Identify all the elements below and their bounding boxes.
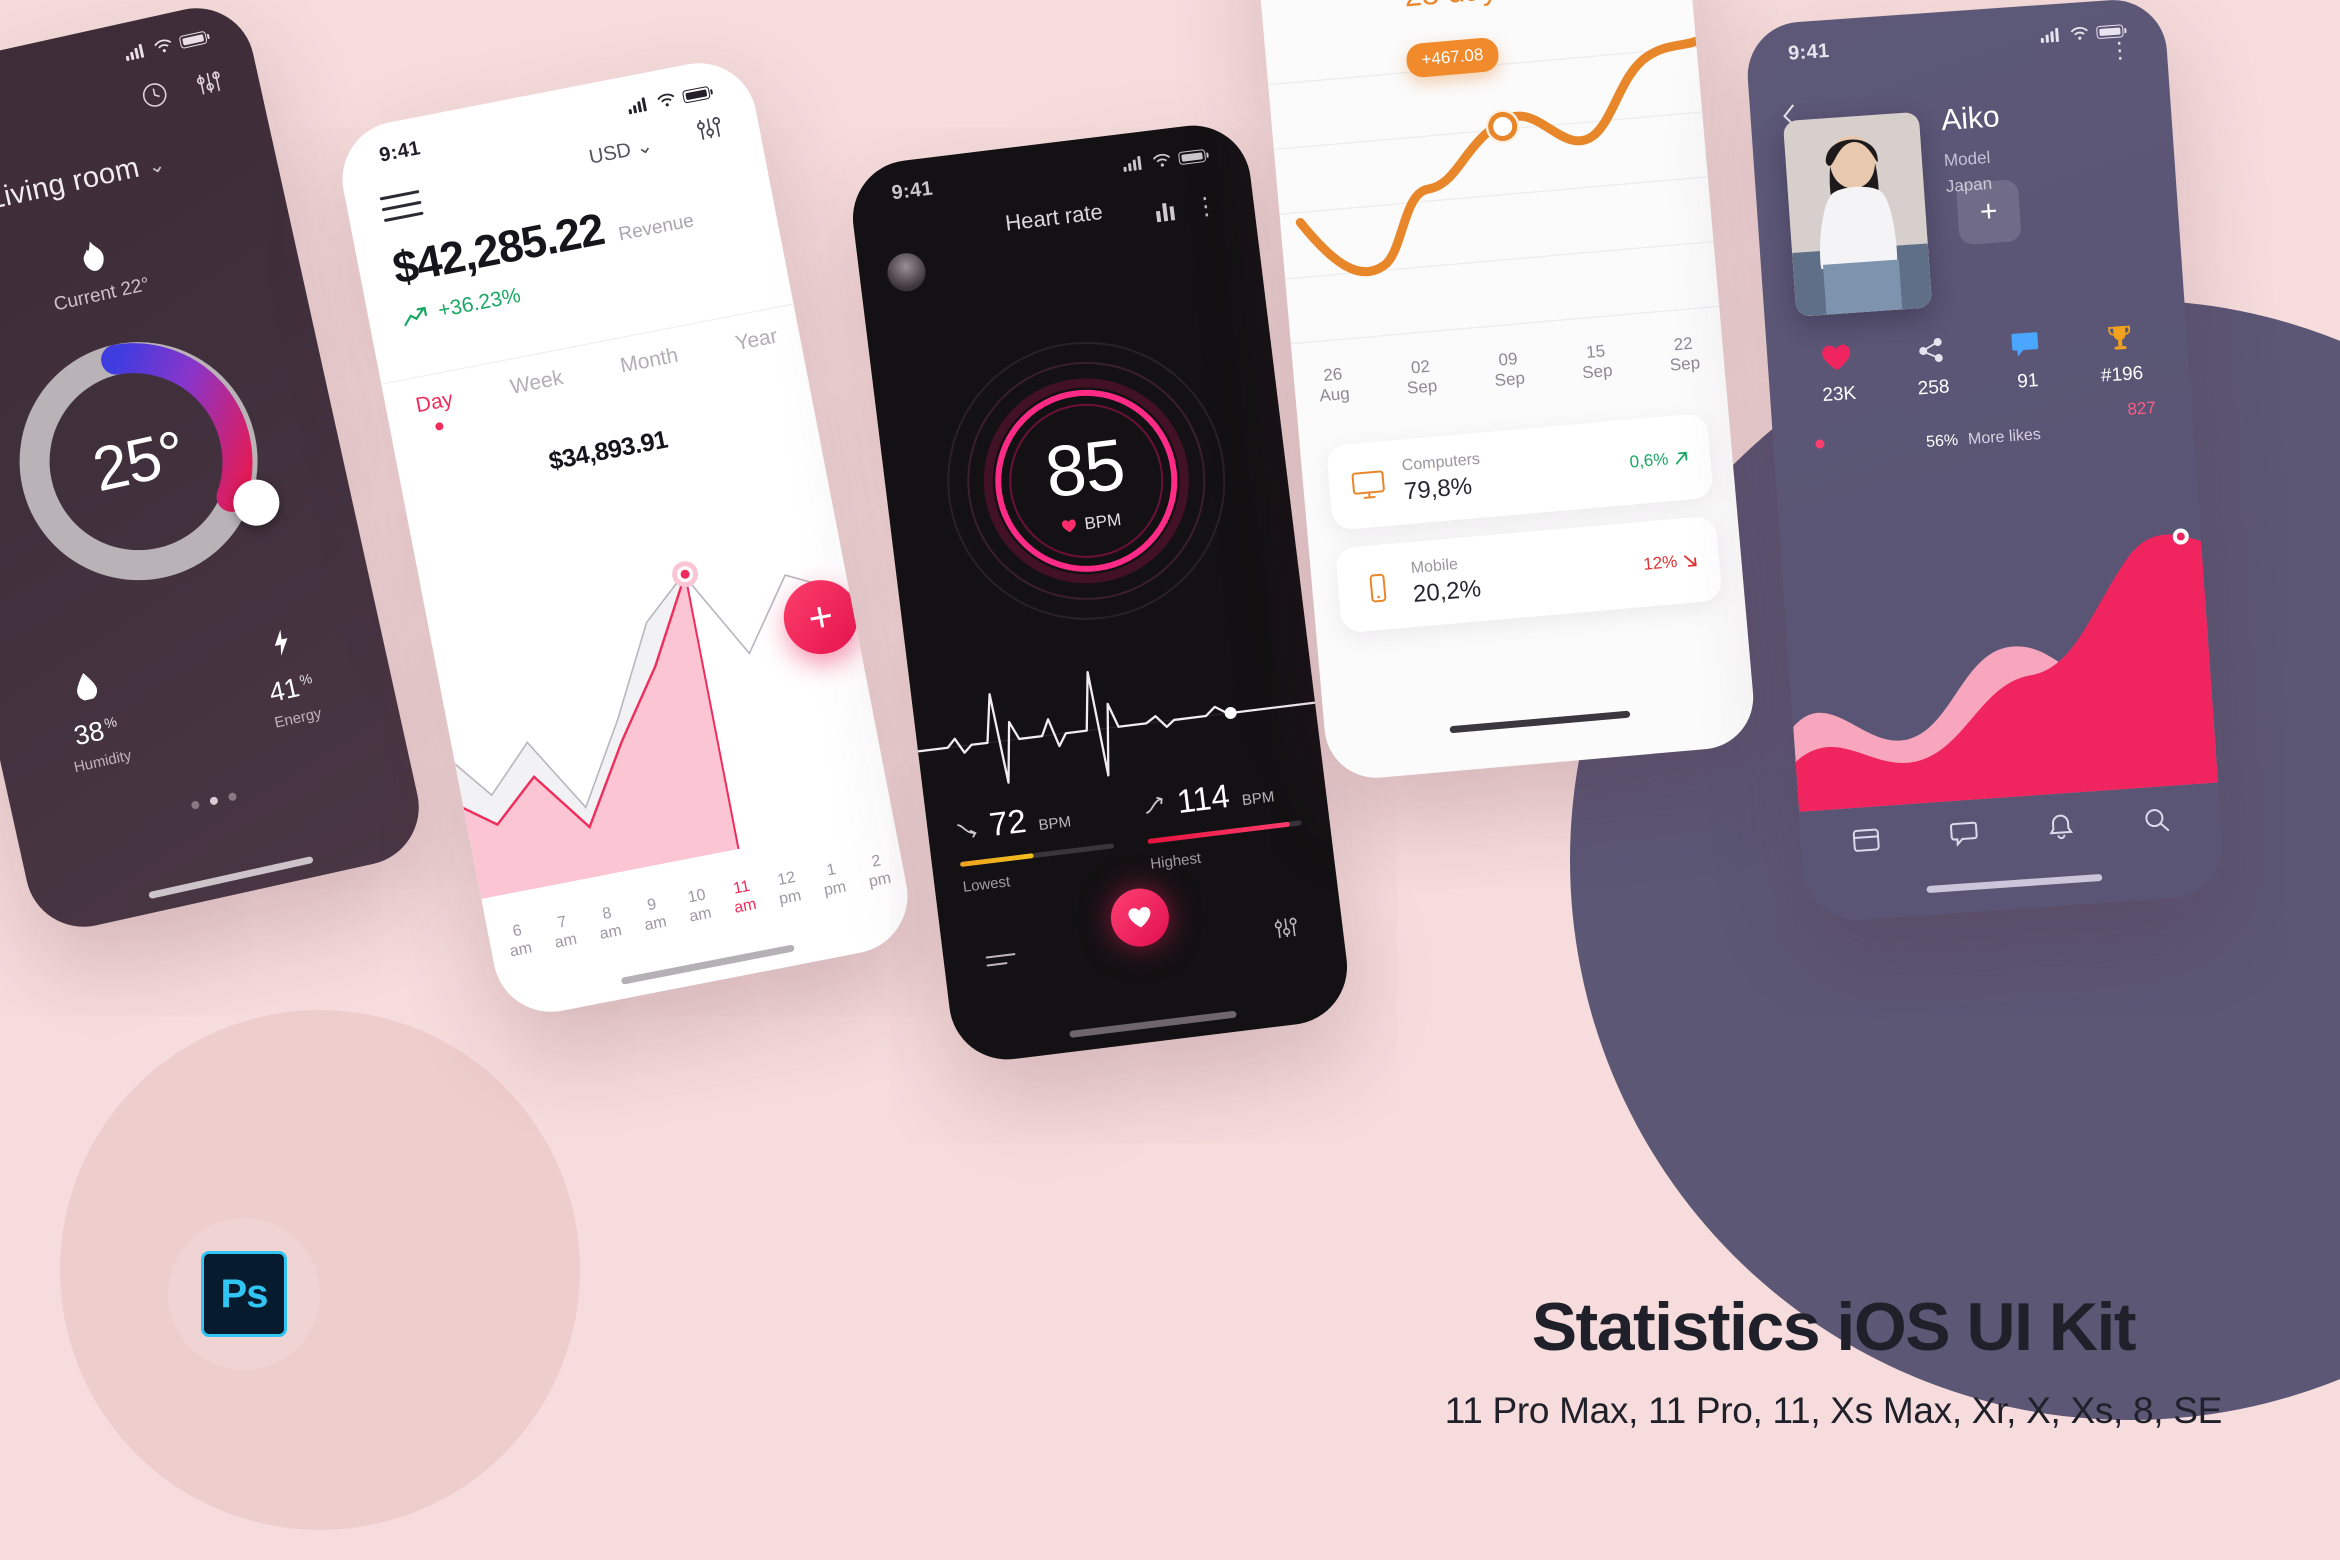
profile-stats: 23K 258 91: [1788, 317, 2170, 409]
axis-tick: 09Sep: [1492, 349, 1526, 392]
axis-tick: 22Sep: [1667, 333, 1701, 376]
room-selector[interactable]: Living room⌄: [0, 122, 275, 241]
phone-site-analytics: Your site data over the last 28 days ⌄ +…: [1252, 0, 1757, 782]
device-change-value: 0,6%: [1629, 449, 1669, 472]
sliders-icon[interactable]: [192, 65, 228, 101]
axis-tick: 10am: [684, 886, 713, 926]
range-value: 28 days: [1403, 0, 1514, 13]
stat-rank-value: #196: [2074, 361, 2170, 390]
arrow-down-icon: [955, 818, 979, 841]
heart-icon: [1788, 337, 1885, 378]
signal-icon: [1122, 155, 1146, 172]
axis-tick: 8am: [595, 904, 624, 944]
status-bar: 9:41: [1744, 0, 2167, 88]
room-name: Living room: [0, 151, 142, 216]
list-item[interactable]: Mobile 20,2% 12%: [1335, 515, 1723, 633]
stat-shares-value: 258: [1886, 374, 1982, 403]
kebab-icon[interactable]: ⋮: [2108, 37, 2132, 64]
profile-role: Model: [1943, 145, 1991, 174]
bpm-readout: 85 BPM: [919, 314, 1253, 648]
card-icon[interactable]: [1851, 826, 1881, 854]
energy-unit: %: [298, 670, 314, 688]
axis-tick: 9am: [639, 895, 668, 935]
likes-area-chart: [1778, 483, 2218, 812]
mobile-icon: [1359, 571, 1395, 604]
flame-icon: [76, 237, 111, 279]
status-time: 9:41: [1787, 39, 1830, 65]
page-dot-active[interactable]: [209, 796, 219, 806]
desktop-icon: [1350, 469, 1386, 502]
poster-caption: Statistics iOS UI Kit 11 Pro Max, 11 Pro…: [1445, 1288, 2222, 1432]
comment-icon[interactable]: [1949, 819, 1979, 847]
axis-tick: 26Aug: [1317, 364, 1351, 407]
arrow-down-icon: [1683, 553, 1698, 568]
tab-month[interactable]: Month: [618, 344, 680, 379]
temperature-dial[interactable]: 25°: [0, 305, 295, 617]
stat-comments-value: 91: [1980, 368, 2076, 397]
revenue-label: Revenue: [617, 210, 696, 245]
avatar[interactable]: [885, 251, 927, 293]
home-indicator: [1926, 874, 2102, 893]
wifi-icon: [656, 91, 676, 108]
axis-tick-active: 11am: [729, 877, 758, 917]
highest-value: 114: [1175, 777, 1232, 821]
axis-tick: 6am: [505, 921, 534, 961]
profile-screen: 9:41 ⋮: [1744, 0, 2226, 924]
page-dot[interactable]: [228, 792, 238, 802]
trend-up-icon: [401, 305, 430, 327]
stat-likes-value: 23K: [1791, 381, 1887, 410]
axis-tick: 15Sep: [1580, 341, 1614, 384]
home-indicator: [1449, 711, 1630, 734]
device-change-value: 12%: [1642, 551, 1678, 574]
axis-tick: 02Sep: [1405, 356, 1439, 399]
battery-icon: [2096, 24, 2124, 39]
stat-energy: 41% Energy: [179, 601, 397, 748]
wifi-icon: [153, 37, 174, 55]
home-indicator: [148, 856, 314, 899]
arrow-up-icon: [1142, 795, 1166, 818]
period-tabs[interactable]: Day Week Month Year: [414, 324, 780, 418]
status-time: 9:41: [377, 137, 422, 167]
heart-icon: [1061, 518, 1078, 534]
hamburger-icon[interactable]: [985, 953, 1017, 973]
hamburger-icon[interactable]: [380, 190, 424, 222]
share-icon: [1883, 330, 1980, 371]
metric-highest: 114 BPM Highest: [1141, 769, 1305, 873]
lowest-caption: Lowest: [962, 860, 1118, 896]
clock-icon[interactable]: [137, 77, 173, 113]
humidity-value: 38: [71, 715, 107, 751]
stat-shares[interactable]: 258: [1883, 330, 1982, 402]
page-title: Statistics iOS UI Kit: [1445, 1288, 2222, 1366]
wifi-icon: [2070, 26, 2089, 41]
device-change: 12%: [1642, 550, 1698, 575]
profile-name: Aiko: [1940, 100, 2001, 138]
bpm-label: BPM: [1083, 510, 1122, 534]
bpm-value: 85: [1041, 423, 1129, 514]
signal-icon: [124, 43, 149, 61]
highest-caption: Highest: [1149, 837, 1305, 873]
home-indicator: [621, 944, 795, 985]
more-likes-value: 56%: [1926, 432, 1959, 451]
energy-value: 41: [266, 672, 302, 708]
revenue-delta-value: +36.23%: [436, 284, 523, 323]
signal-icon: [627, 96, 651, 114]
more-likes-row: 56%More likes: [1773, 415, 2193, 462]
page-dot[interactable]: [191, 800, 201, 810]
chevron-down-icon: ⌄: [1520, 0, 1549, 3]
stat-likes[interactable]: 23K: [1788, 337, 1887, 409]
device-change: 0,6%: [1629, 447, 1689, 472]
status-icons: [627, 85, 711, 115]
status-icons: [1122, 148, 1206, 172]
axis-tick: 7am: [550, 912, 579, 952]
axis-tick: 1pm: [819, 860, 848, 900]
profile-photo: [1783, 112, 1932, 317]
lowest-unit: BPM: [1038, 813, 1072, 834]
phone-revenue: 9:41 USD ⌄: [333, 53, 918, 1022]
photoshop-badge: Ps: [168, 1218, 320, 1370]
chevron-down-icon: ⌄: [146, 154, 168, 179]
thermostat-stats: 38% Humidity 41% Energy: [0, 601, 397, 791]
stat-humidity: 38% Humidity: [0, 645, 202, 792]
battery-icon: [682, 85, 711, 103]
status-time: 9:41: [890, 177, 934, 205]
stat-comments[interactable]: 91: [1977, 324, 2076, 396]
humidity-unit: %: [103, 713, 119, 731]
axis-tick: 2pm: [864, 851, 893, 891]
poster-canvas: Living room⌄ Current 22°: [0, 0, 2340, 1560]
bar-chart-icon[interactable]: [1153, 197, 1182, 224]
arrow-up-icon: [1674, 450, 1689, 465]
background-circle-pink: [60, 1010, 580, 1530]
axis-tick: 12pm: [774, 869, 803, 909]
revenue-area-chart: [405, 426, 894, 899]
revenue-screen: 9:41 USD ⌄: [333, 53, 918, 1022]
kebab-icon[interactable]: ⋮: [1192, 191, 1221, 223]
heart-rate-screen: 9:41 Heart rate ⋮: [846, 119, 1353, 1066]
status-icons: [124, 30, 208, 62]
signal-icon: [2040, 28, 2063, 44]
bpm-ring: 85 BPM: [919, 314, 1253, 648]
device-breakdown-list: Computers 79,8% 0,6%: [1326, 413, 1725, 652]
bell-icon[interactable]: [2047, 812, 2075, 841]
peak-label: 827: [2127, 398, 2157, 420]
list-item[interactable]: Computers 79,8% 0,6%: [1326, 413, 1714, 531]
search-icon[interactable]: [2143, 806, 2171, 834]
battery-icon: [1178, 148, 1206, 164]
bpm-unit-row: BPM: [1061, 510, 1123, 537]
photoshop-logo: Ps: [201, 1251, 287, 1337]
metric-lowest: 72 BPM Lowest: [953, 792, 1117, 896]
add-button[interactable]: +: [1956, 179, 2022, 245]
home-indicator: [1069, 1011, 1237, 1038]
trophy-icon: [2071, 317, 2168, 358]
device-list: 11 Pro Max, 11 Pro, 11, Xs Max, Xr, X, X…: [1445, 1390, 2222, 1432]
wifi-icon: [1152, 152, 1172, 168]
more-likes-label: More likes: [1968, 426, 2042, 448]
tab-week[interactable]: Week: [508, 366, 565, 400]
phone-heart-rate: 9:41 Heart rate ⋮: [846, 119, 1353, 1066]
highest-unit: BPM: [1241, 788, 1275, 809]
sliders-icon[interactable]: [1271, 912, 1302, 943]
stat-rank[interactable]: #196: [2071, 317, 2170, 389]
comment-icon: [1977, 324, 2074, 365]
tab-year[interactable]: Year: [733, 324, 779, 356]
battery-icon: [179, 30, 208, 49]
tab-day[interactable]: Day: [414, 388, 455, 419]
dial-value: 25°: [0, 305, 295, 617]
analytics-screen: Your site data over the last 28 days ⌄ +…: [1252, 0, 1757, 782]
phone-profile: 9:41 ⋮: [1744, 0, 2226, 924]
lowest-value: 72: [987, 802, 1028, 844]
